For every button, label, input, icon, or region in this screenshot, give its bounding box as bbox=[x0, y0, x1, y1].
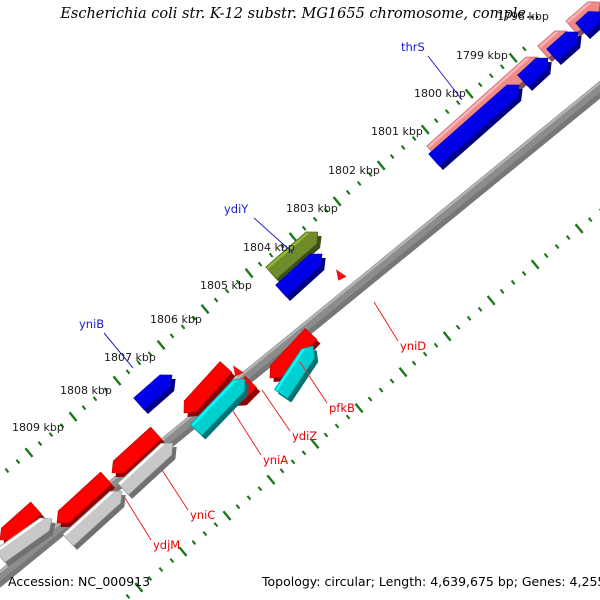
ruler-tick-label: 1805 kbp bbox=[200, 279, 252, 292]
sequence-viewer-canvas[interactable]: Escherichia coli str. K-12 substr. MG165… bbox=[0, 0, 600, 600]
gene-label-yniD[interactable]: yniD bbox=[400, 339, 426, 353]
gene-label-leader-line bbox=[233, 411, 261, 455]
ruler-tick-label: 1801 kbp bbox=[371, 125, 423, 138]
sequence-stats-label: Topology: circular; Length: 4,639,675 bp… bbox=[261, 574, 600, 589]
accession-label: Accession: NC_000913 bbox=[8, 574, 150, 589]
gene-label-leader-line bbox=[125, 498, 151, 540]
gene-label-yniC[interactable]: yniC bbox=[190, 508, 215, 522]
gene-label-thrS[interactable]: thrS bbox=[401, 40, 425, 54]
ruler-tick-label: 1798 kbp bbox=[497, 10, 549, 23]
ruler-tick-label: 1809 kbp bbox=[12, 421, 64, 434]
gene-label-ydjM[interactable]: ydjM bbox=[153, 538, 180, 552]
gene-label-ydiZ[interactable]: ydiZ bbox=[292, 429, 317, 443]
gene-label-yniA[interactable]: yniA bbox=[263, 453, 288, 467]
gene-label-yniB[interactable]: yniB bbox=[79, 317, 104, 331]
ruler-tick-label: 1799 kbp bbox=[456, 49, 508, 62]
gene-label-leader-line bbox=[300, 362, 327, 403]
ruler-tick-label: 1802 kbp bbox=[328, 164, 380, 177]
page-title: Escherichia coli str. K-12 substr. MG165… bbox=[59, 6, 539, 22]
gene-label-ydiY[interactable]: ydiY bbox=[224, 202, 249, 216]
genome-map-labels: Escherichia coli str. K-12 substr. MG165… bbox=[0, 0, 600, 600]
ruler-tick-label: 1806 kbp bbox=[150, 313, 202, 326]
ruler-tick-label: 1800 kbp bbox=[414, 87, 466, 100]
ruler-tick-label: 1808 kbp bbox=[60, 384, 112, 397]
gene-label-leader-line bbox=[262, 390, 290, 431]
gene-label-pfkB[interactable]: pfkB bbox=[329, 401, 355, 415]
gene-label-leader-line bbox=[162, 470, 188, 510]
ruler-tick-label: 1807 kbp bbox=[104, 351, 156, 364]
ruler-tick-label: 1803 kbp bbox=[286, 202, 338, 215]
gene-label-leader-line bbox=[374, 302, 398, 341]
